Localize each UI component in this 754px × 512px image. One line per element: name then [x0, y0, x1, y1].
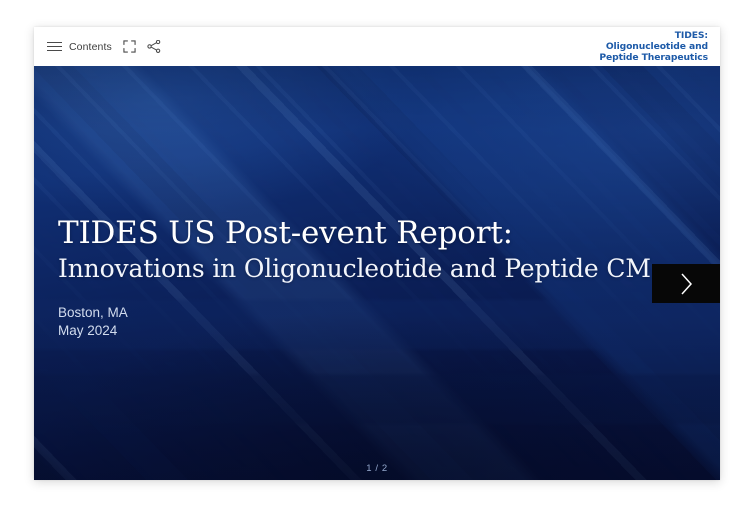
- fullscreen-button[interactable]: [122, 38, 137, 55]
- page-indicator: 1 / 2: [34, 463, 720, 474]
- slide-subtitle: Innovations in Oligonucleotide and Pepti…: [58, 254, 651, 284]
- slide-meta-block: Boston, MA May 2024: [58, 304, 651, 340]
- brand-line-3: Peptide Therapeutics: [599, 53, 708, 64]
- slide-title: TIDES US Post-event Report:: [58, 216, 651, 251]
- chevron-right-icon: [678, 271, 695, 297]
- toolbar-left-group: Contents: [46, 38, 162, 55]
- slide-date: May 2024: [58, 322, 651, 340]
- share-icon: [147, 40, 161, 53]
- contents-button-label: Contents: [69, 41, 112, 53]
- document-viewer-card: Contents: [34, 27, 720, 480]
- hamburger-menu-icon: [47, 42, 62, 52]
- tides-brand-logo: TIDES: Oligonucleotide and Peptide Thera…: [599, 31, 708, 63]
- viewer-toolbar: Contents: [34, 27, 720, 66]
- slide-canvas: TIDES US Post-event Report: Innovations …: [34, 66, 720, 480]
- contents-button[interactable]: Contents: [46, 39, 113, 55]
- fullscreen-expand-icon: [123, 40, 136, 53]
- next-slide-button[interactable]: [652, 264, 720, 303]
- brand-line-2: Oligonucleotide and: [599, 42, 708, 53]
- slide-location: Boston, MA: [58, 304, 651, 322]
- share-button[interactable]: [146, 38, 162, 55]
- slide-text-block: TIDES US Post-event Report: Innovations …: [58, 216, 651, 340]
